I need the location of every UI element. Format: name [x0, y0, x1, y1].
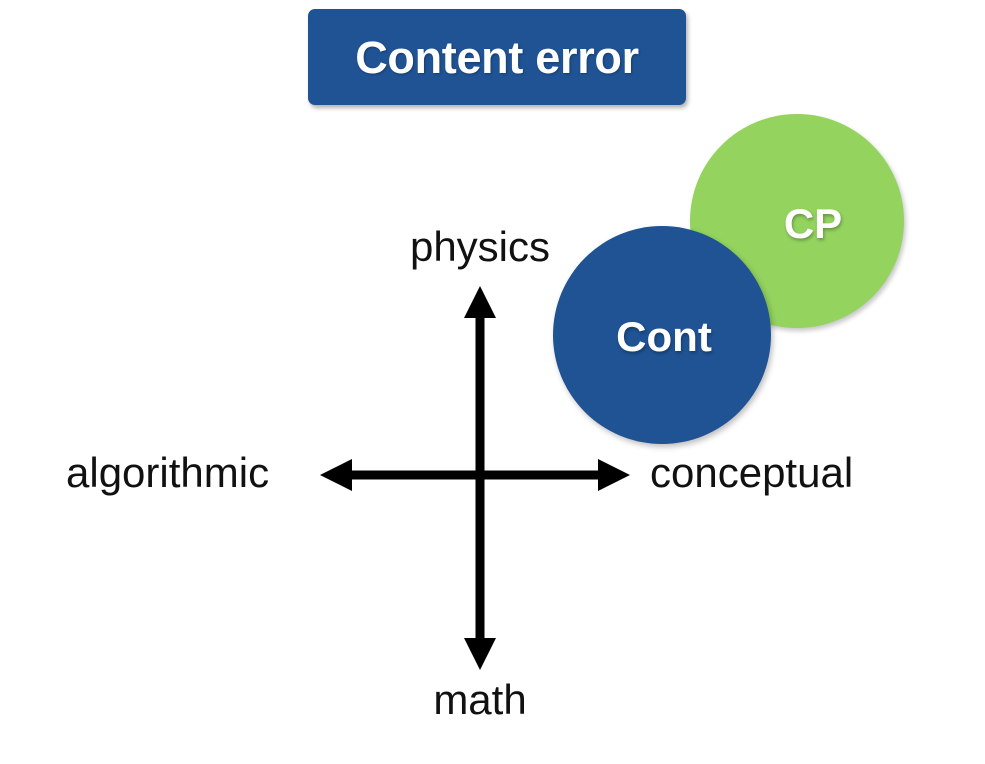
arrow-up-icon [464, 286, 496, 318]
arrow-down-icon [464, 638, 496, 670]
arrow-left-icon [320, 459, 352, 491]
diagram-canvas: Content error physics math algorithmic c… [0, 0, 985, 764]
axis-cross [0, 0, 985, 764]
axis-label-algorithmic: algorithmic [66, 452, 269, 494]
arrow-right-icon [598, 459, 630, 491]
bubble-cont: Cont [553, 226, 771, 444]
axis-label-math: math [0, 679, 960, 721]
bubble-cont-label: Cont [616, 316, 712, 358]
bubble-cp-label: CP [784, 203, 842, 245]
title-banner: Content error [308, 9, 686, 105]
axis-label-conceptual: conceptual [650, 452, 853, 494]
title-banner-label: Content error [355, 35, 639, 80]
